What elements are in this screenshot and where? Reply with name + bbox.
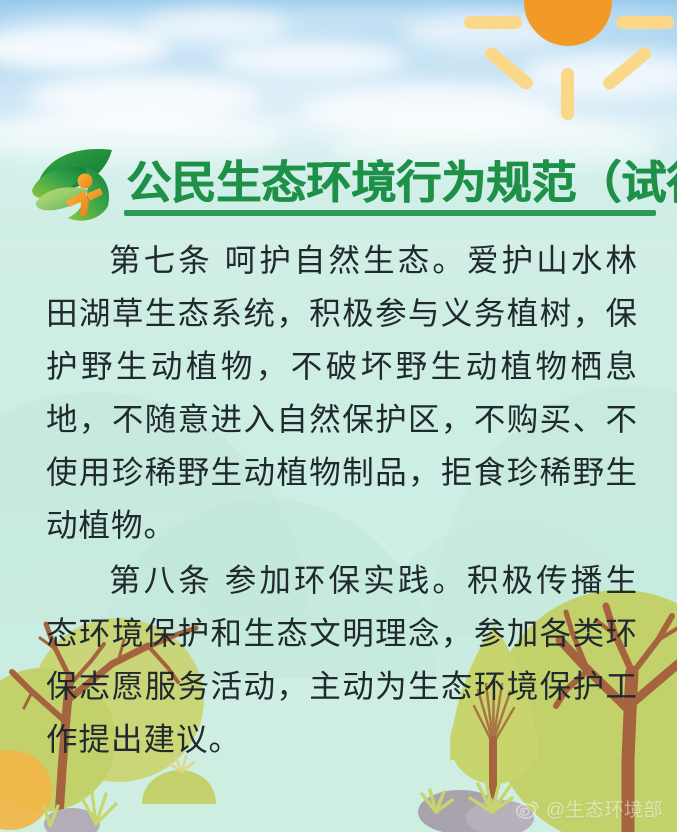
sun-icon [468, 0, 668, 138]
cloud-icon [216, 40, 406, 80]
weibo-icon [516, 797, 540, 821]
grass-icon [44, 792, 116, 826]
weibo-handle: @生态环境部 [546, 795, 663, 822]
title-underline [124, 210, 656, 216]
sun-ray [616, 16, 674, 29]
sun-disc [524, 0, 612, 46]
grass-icon [422, 780, 512, 812]
ministry-of-ecology-leaf-logo [26, 144, 130, 224]
sun-ray [561, 68, 574, 120]
sun-ray [464, 16, 522, 29]
sun-ray [483, 45, 536, 92]
article-paragraph: 第七条 呵护自然生态。爱护山水林田湖草生态系统，积极参与义务植树，保护野生动植物… [46, 234, 638, 552]
sun-ray [601, 45, 654, 92]
poster-canvas: 公民生态环境行为规范（试行） 第七条 呵护自然生态。爱护山水林田湖草生态系统，积… [0, 0, 677, 832]
cloud-icon [140, 10, 290, 46]
rock-icon [44, 808, 100, 832]
poster-header: 公民生态环境行为规范（试行） [0, 140, 677, 232]
page-title: 公民生态环境行为规范（试行） [126, 146, 677, 211]
article-paragraph: 第八条 参加环保实践。积极传播生态环境保护和生态文明理念，参加各类环保志愿服务活… [46, 554, 638, 766]
weibo-watermark: @生态环境部 [516, 795, 663, 822]
bush-icon [0, 750, 52, 830]
regulation-text-body: 第七条 呵护自然生态。爱护山水林田湖草生态系统，积极参与义务植树，保护野生动植物… [46, 234, 638, 766]
